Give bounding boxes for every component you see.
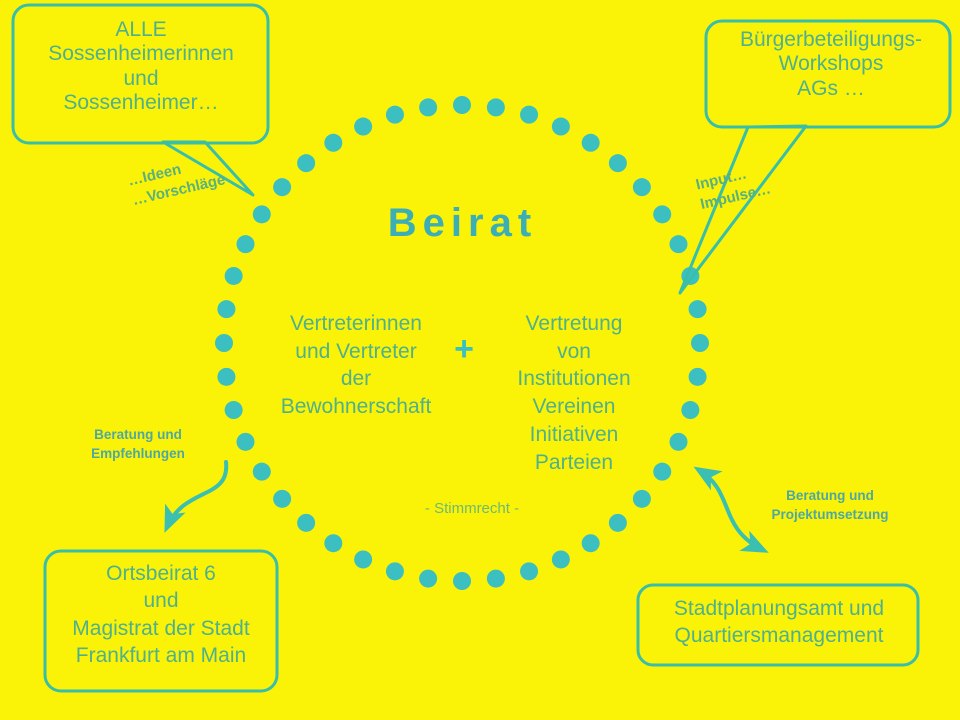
circle-dot [419,570,437,588]
circle-dot [689,300,707,318]
circle-dot [324,534,342,552]
circle-dot [582,534,600,552]
arrow-left-curve [167,462,226,527]
plus-icon: + [440,330,488,369]
circle-dot [217,300,235,318]
circle-dot [691,334,709,352]
circle-dot [237,235,255,253]
bubble-right-tail [680,126,806,293]
diagram-canvas: ALLE Sossenheimerinnen und Sossenheimer…… [0,0,960,720]
circle-dot [297,514,315,532]
circle-dot [633,178,651,196]
circle-dot [386,106,404,124]
circle-dot [273,178,291,196]
circle-dot [324,134,342,152]
circle-dot [419,98,437,116]
circle-dot [609,514,627,532]
circle-dot [253,463,271,481]
circle-dot [487,98,505,116]
center-column-right: Vertretung von Institutionen Vereinen In… [490,310,658,476]
circle-dot [253,205,271,223]
circle-dot [552,550,570,568]
circle-dot [582,134,600,152]
circle-dot [225,401,243,419]
circle-dot [453,572,471,590]
circle-dot [552,118,570,136]
circle-dot [453,96,471,114]
circle-dot [354,118,372,136]
bubble-left-label: ALLE Sossenheimerinnen und Sossenheimer… [20,18,262,115]
circle-dot [237,433,255,451]
circle-dot [689,368,707,386]
center-column-left: Vertreterinnen und Vertreter der Bewohne… [272,310,440,421]
circle-dot [297,154,315,172]
circle-dot [633,490,651,508]
circle-dot [487,570,505,588]
circle-dot [520,562,538,580]
circle-dot [520,106,538,124]
stimmrecht-footnote: - Stimmrecht - [372,500,572,517]
circle-dot [386,562,404,580]
bubble-right-label: Bürgerbeteiligungs- Workshops AGs … [712,28,950,101]
circle-dot [217,368,235,386]
circle-dot [609,154,627,172]
circle-dot [681,401,699,419]
circle-dot [225,267,243,285]
beirat-title: Beirat [290,200,635,246]
circle-dot [669,433,687,451]
box-bottom-left-label: Ortsbeirat 6 und Magistrat der Stadt Fra… [52,560,270,669]
box-bottom-right-label: Stadtplanungsamt und Quartiersmanagement [648,595,910,650]
arrow-right-label: Beratung und Projektumsetzung [740,487,920,524]
circle-dot [215,334,233,352]
circle-dot [354,550,372,568]
circle-dot [669,235,687,253]
circle-dot [273,490,291,508]
circle-dot [653,205,671,223]
arrow-left-label: Beratung und Empfehlungen [64,426,212,463]
